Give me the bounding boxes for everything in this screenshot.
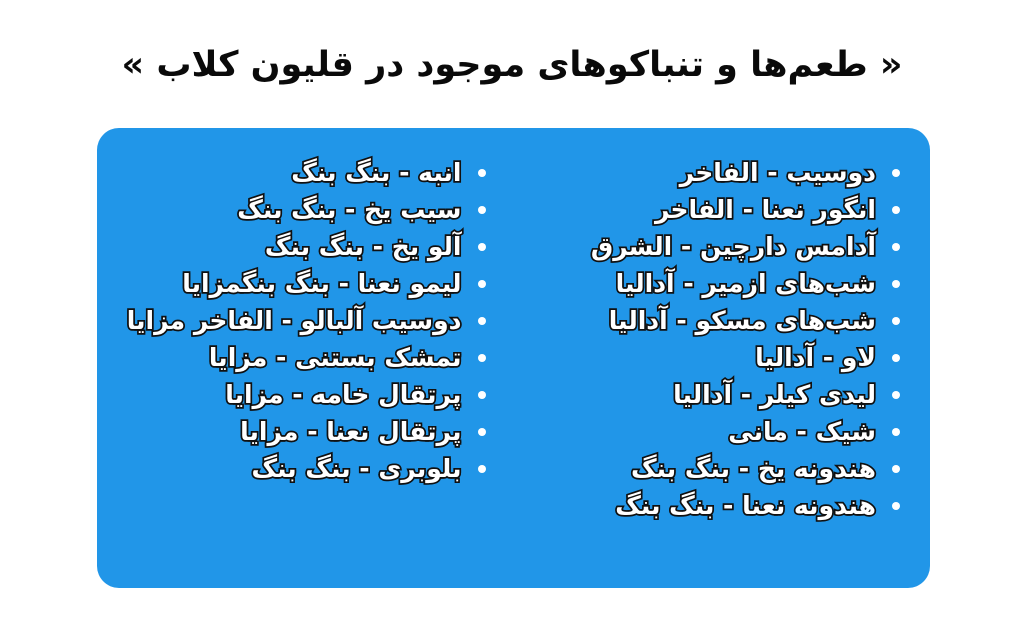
flavor-list-item: انگور نعنا - الفاخر bbox=[514, 191, 907, 228]
flavor-label: لاو - آدالیا bbox=[755, 339, 876, 376]
flavor-label: سیب یخ - بنگ بنگ bbox=[237, 191, 461, 228]
bullet-icon bbox=[892, 317, 900, 325]
flavor-list-item: لیدی کیلر - آدالیا bbox=[514, 376, 907, 413]
flavor-list-item: شیک - مانی bbox=[514, 413, 907, 450]
flavor-label: انبه - بنگ بنگ bbox=[291, 154, 461, 191]
flavor-label: هندونه نعنا - بنگ بنگ bbox=[615, 487, 876, 524]
bullet-icon bbox=[478, 206, 486, 214]
flavor-label: آدامس دارچین - الشرق bbox=[591, 228, 876, 265]
bullet-icon bbox=[892, 280, 900, 288]
flavor-card: دوسیب - الفاخرانگور نعنا - الفاخرآدامس د… bbox=[97, 128, 930, 588]
flavor-label: لیدی کیلر - آدالیا bbox=[673, 376, 876, 413]
flavor-list-item: پرتقال نعنا - مزایا bbox=[97, 413, 492, 450]
flavor-label: شب‌های ازمیر - آدالیا bbox=[616, 265, 876, 302]
flavor-label: شب‌های مسکو - آدالیا bbox=[609, 302, 876, 339]
bullet-icon bbox=[892, 391, 900, 399]
flavor-list-item: آلو یخ - بنگ بنگ bbox=[97, 228, 492, 265]
bullet-icon bbox=[478, 243, 486, 251]
flavor-label: بلوبری - بنگ بنگ bbox=[252, 450, 462, 487]
flavor-label: تمشک بستنی - مزایا bbox=[209, 339, 462, 376]
bullet-icon bbox=[892, 243, 900, 251]
bullet-icon bbox=[892, 502, 900, 510]
flavor-list-item: آدامس دارچین - الشرق bbox=[514, 228, 907, 265]
bullet-icon bbox=[478, 280, 486, 288]
flavor-label: پرتقال خامه - مزایا bbox=[225, 376, 461, 413]
bullet-icon bbox=[478, 391, 486, 399]
bullet-icon bbox=[892, 206, 900, 214]
bullet-icon bbox=[892, 169, 900, 177]
flavor-list-item: سیب یخ - بنگ بنگ bbox=[97, 191, 492, 228]
bullet-icon bbox=[478, 317, 486, 325]
flavor-list-item: بلوبری - بنگ بنگ bbox=[97, 450, 492, 487]
bullet-icon bbox=[892, 465, 900, 473]
left-flavor-list: انبه - بنگ بنگسیب یخ - بنگ بنگآلو یخ - ب… bbox=[97, 154, 492, 487]
right-flavor-list: دوسیب - الفاخرانگور نعنا - الفاخرآدامس د… bbox=[514, 154, 907, 524]
flavor-columns: دوسیب - الفاخرانگور نعنا - الفاخرآدامس د… bbox=[97, 128, 930, 588]
flavor-list-item: دوسیب - الفاخر bbox=[514, 154, 907, 191]
flavor-label: پرتقال نعنا - مزایا bbox=[240, 413, 461, 450]
flavor-list-item: شب‌های ازمیر - آدالیا bbox=[514, 265, 907, 302]
bullet-icon bbox=[892, 428, 900, 436]
bullet-icon bbox=[478, 169, 486, 177]
page-root: « طعم‌ها و تنباکوهای موجود در قلیون کلاب… bbox=[0, 0, 1024, 640]
flavor-list-item: هندونه نعنا - بنگ بنگ bbox=[514, 487, 907, 524]
flavor-list-item: شب‌های مسکو - آدالیا bbox=[514, 302, 907, 339]
flavor-label: دوسیب - الفاخر bbox=[680, 154, 876, 191]
bullet-icon bbox=[478, 354, 486, 362]
flavor-label: انگور نعنا - الفاخر bbox=[655, 191, 876, 228]
left-flavor-column: انبه - بنگ بنگسیب یخ - بنگ بنگآلو یخ - ب… bbox=[97, 128, 514, 588]
flavor-list-item: پرتقال خامه - مزایا bbox=[97, 376, 492, 413]
flavor-label: هندونه یخ - بنگ بنگ bbox=[631, 450, 876, 487]
flavor-label: آلو یخ - بنگ بنگ bbox=[265, 228, 462, 265]
bullet-icon bbox=[892, 354, 900, 362]
flavor-list-item: هندونه یخ - بنگ بنگ bbox=[514, 450, 907, 487]
flavor-label: دوسیب آلبالو - الفاخر مزایا bbox=[127, 302, 462, 339]
flavor-list-item: دوسیب آلبالو - الفاخر مزایا bbox=[97, 302, 492, 339]
right-flavor-column: دوسیب - الفاخرانگور نعنا - الفاخرآدامس د… bbox=[514, 128, 931, 588]
flavor-list-item: انبه - بنگ بنگ bbox=[97, 154, 492, 191]
page-title: « طعم‌ها و تنباکوهای موجود در قلیون کلاب… bbox=[88, 45, 936, 86]
bullet-icon bbox=[478, 465, 486, 473]
flavor-list-item: لیمو نعنا - بنگ بنگمزایا bbox=[97, 265, 492, 302]
flavor-list-item: تمشک بستنی - مزایا bbox=[97, 339, 492, 376]
bullet-icon bbox=[478, 428, 486, 436]
flavor-list-item: لاو - آدالیا bbox=[514, 339, 907, 376]
flavor-label: لیمو نعنا - بنگ بنگمزایا bbox=[182, 265, 461, 302]
flavor-label: شیک - مانی bbox=[728, 413, 876, 450]
